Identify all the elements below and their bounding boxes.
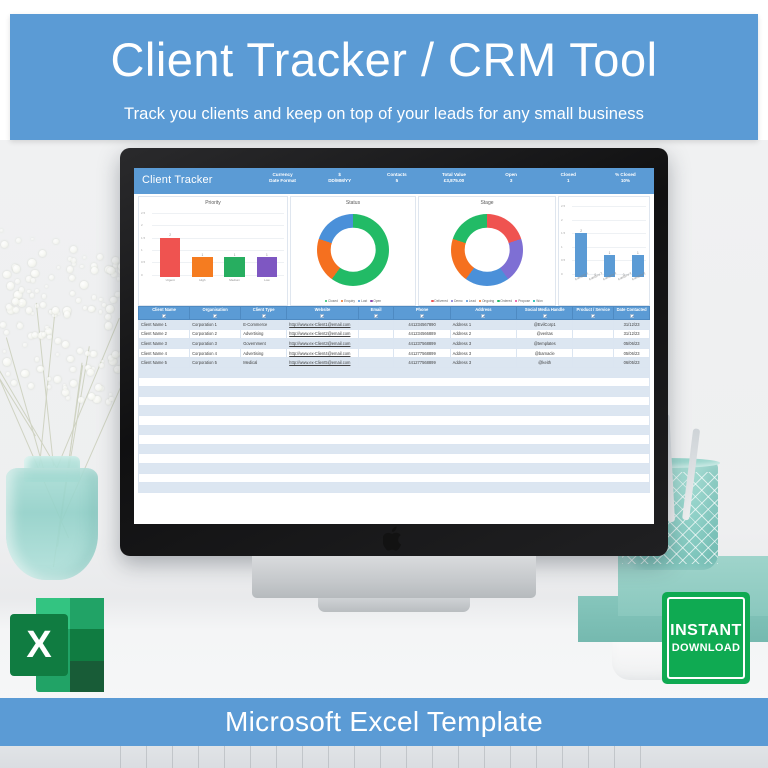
flower-bloom <box>26 307 32 313</box>
y-axis-tick: 0 <box>141 273 143 277</box>
y-axis-tick: 1.5 <box>141 236 145 240</box>
flower-bloom <box>17 323 23 329</box>
bar[interactable] <box>192 257 213 277</box>
cell-website[interactable]: http://www.ex-Client3@email.com <box>287 339 359 349</box>
legend-label: Lost <box>361 299 367 303</box>
legend-label: Ongoing <box>482 299 494 303</box>
cell-product[interactable] <box>573 320 614 330</box>
flower-bloom <box>31 270 38 277</box>
kpi-contacts-value: 5 <box>368 178 425 185</box>
flower-bloom <box>45 285 48 288</box>
y-axis-tick: 1 <box>141 248 143 252</box>
kpi-currency-symbol-label: $ <box>311 172 368 179</box>
page-subtitle: Track you clients and keep on top of you… <box>10 83 758 124</box>
flower-bloom <box>54 376 60 382</box>
chart-stage-plot <box>419 210 555 289</box>
legend-item: Ordered <box>497 299 512 303</box>
filter-dropdown-icon[interactable] <box>591 314 595 318</box>
filter-dropdown-icon[interactable] <box>162 314 166 318</box>
cell-address[interactable]: Address 3 <box>450 339 516 349</box>
flower-bloom <box>7 282 15 290</box>
chart-stage-legend: DeliveredDemoLeadOngoingOrderedProposeWo… <box>419 299 555 303</box>
x-axis-tick-label: Urgent <box>166 277 175 282</box>
cell-phone[interactable]: 441277568899 <box>394 348 450 358</box>
table-header-date-contacted: Date Contacted <box>614 307 650 320</box>
flower-bloom <box>47 335 51 339</box>
chart-client-type[interactable]: 00.511.522.52Category 10Category 21Categ… <box>558 196 650 306</box>
cell-email[interactable] <box>358 339 394 349</box>
cell-organisation[interactable]: Corporation 5 <box>190 358 241 368</box>
cell-client-type[interactable]: Advertising <box>241 329 287 339</box>
flower-bloom <box>80 281 88 289</box>
flower-bloom <box>1 241 8 248</box>
bar[interactable] <box>257 257 278 277</box>
excel-icon: X <box>10 598 104 692</box>
y-axis-tick: 1.5 <box>561 231 565 235</box>
table-header-phone: Phone <box>394 307 450 320</box>
empty-row[interactable] <box>138 464 650 474</box>
filter-dropdown-icon[interactable] <box>481 314 485 318</box>
flower-bloom <box>3 271 10 278</box>
bar-value-label: 1 <box>257 253 278 257</box>
spreadsheet-title: Client Tracker <box>134 168 254 194</box>
legend-label: Ordered <box>500 299 512 303</box>
flower-bloom <box>40 302 46 308</box>
legend-item: Propose <box>515 299 530 303</box>
table-header-email: Email <box>358 307 394 320</box>
flower-bloom <box>97 254 103 260</box>
flower-bloom <box>92 295 97 300</box>
flower-bloom <box>28 259 36 267</box>
bar-item[interactable]: 1High <box>192 214 213 277</box>
flower-bloom <box>13 265 21 273</box>
excel-icon-quad-4 <box>70 661 104 692</box>
table-header-product-service: Product / Service <box>573 307 614 320</box>
flower-bloom <box>76 298 81 303</box>
flower-bloom <box>42 294 46 298</box>
kpi-date-format-value: DD/MM/YY <box>311 178 368 185</box>
kpi-currency-symbol: $ DD/MM/YY <box>311 168 368 194</box>
table-header-address: Address <box>450 307 516 320</box>
flower-bloom <box>64 311 71 318</box>
cell-client-type[interactable]: E-Commerce <box>241 320 287 330</box>
table-header-row: Client NameOrganisationClient TypeWebsit… <box>139 307 650 320</box>
bar-value-label: 1 <box>224 253 245 257</box>
excel-icon-quad-3 <box>70 629 104 661</box>
kpi-open: Open 3 <box>483 168 540 194</box>
bar-item[interactable]: 2Category 1 <box>575 207 586 277</box>
flower-bloom <box>99 310 103 314</box>
instant-download-line-1: INSTANT <box>670 622 742 640</box>
flower-bloom <box>30 293 35 298</box>
kpi-closed-value: 1 <box>540 178 597 185</box>
flower-bloom <box>3 350 7 354</box>
legend-label: Enquiry <box>344 299 355 303</box>
client-table: Client NameOrganisationClient TypeWebsit… <box>138 306 650 368</box>
empty-row[interactable] <box>138 387 650 397</box>
kpi-closed-label: Closed <box>540 172 597 179</box>
bottom-banner: Microsoft Excel Template <box>0 698 768 746</box>
chart-priority-plot: 00.511.522.52Urgent1High1Medium1Low <box>139 210 287 289</box>
spreadsheet: Client Tracker Currency Date Format $ DD… <box>134 168 654 524</box>
cell-product[interactable] <box>573 348 614 358</box>
cell-client-name[interactable]: Client Name 5 <box>139 358 190 368</box>
cell-website[interactable]: http://www.ex-Client1@email.com <box>287 320 359 330</box>
table-row[interactable]: Client Name 5Corporation 5Medicalhttp://… <box>139 358 650 368</box>
empty-row[interactable] <box>138 397 650 407</box>
flower-bloom <box>110 297 116 303</box>
flower-bloom <box>56 353 59 356</box>
table-header-label: Website <box>288 308 357 313</box>
bar[interactable] <box>224 257 245 277</box>
flower-bloom <box>66 396 70 400</box>
y-axis-tick: 0.5 <box>141 260 145 264</box>
cell-date[interactable]: 31/12/23 <box>614 320 650 330</box>
legend-label: Demo <box>454 299 463 303</box>
flower-bloom <box>53 239 58 244</box>
cell-social[interactable]: @barnacle <box>517 348 573 358</box>
flower-bloom <box>32 332 38 338</box>
x-axis-tick-label: High <box>199 277 205 282</box>
legend-item: Enquiry <box>341 299 355 303</box>
x-axis-tick-label: Low <box>264 277 270 282</box>
filter-dropdown-icon[interactable] <box>213 314 217 318</box>
legend-item: Delivered <box>431 299 448 303</box>
instant-download-inner: INSTANT DOWNLOAD <box>667 597 745 679</box>
flower-bloom <box>57 266 60 269</box>
table-header-website: Website <box>287 307 359 320</box>
kpi-currency-label: Currency <box>254 172 311 179</box>
cell-product[interactable] <box>573 358 614 368</box>
donut-hole <box>331 227 376 272</box>
empty-row[interactable] <box>138 426 650 436</box>
cell-product[interactable] <box>573 329 614 339</box>
cell-social[interactable]: @templates <box>517 339 573 349</box>
cell-website[interactable]: http://www.ex-Client5@email.com <box>287 358 359 368</box>
flower-bloom <box>105 314 111 320</box>
flower-bloom <box>6 372 11 377</box>
cell-phone[interactable]: 441234567890 <box>394 320 450 330</box>
cell-date[interactable]: 31/12/23 <box>614 329 650 339</box>
chart-stage[interactable]: Stage DeliveredDemoLeadOngoingOrderedPro… <box>418 196 556 306</box>
y-axis-tick: 2.5 <box>141 211 145 215</box>
kpi-closed: Closed 1 <box>540 168 597 194</box>
flower-bloom <box>42 332 47 337</box>
flower-bloom <box>88 306 94 312</box>
cell-client-name[interactable]: Client Name 1 <box>139 320 190 330</box>
legend-swatch <box>341 300 343 302</box>
legend-label: Lead <box>469 299 476 303</box>
cell-client-name[interactable]: Client Name 2 <box>139 329 190 339</box>
monitor-stand <box>318 598 470 612</box>
flower-bloom <box>15 279 20 284</box>
flower-bloom <box>49 275 55 281</box>
y-axis-tick: 2.5 <box>561 204 565 208</box>
monitor-chin <box>252 556 536 598</box>
empty-row[interactable] <box>138 474 650 484</box>
kpi-contacts: Contacts 5 <box>368 168 425 194</box>
excel-icon-letter: X <box>10 614 68 676</box>
kpi-total-value-value: £3,875.00 <box>425 178 482 185</box>
flower-bloom <box>3 358 11 366</box>
cell-product[interactable] <box>573 339 614 349</box>
legend-item: Ongoing <box>479 299 494 303</box>
imac-computer: Client Tracker Currency Date Format $ DD… <box>120 148 668 600</box>
flower-bloom <box>62 341 69 348</box>
legend-item: Lead <box>466 299 476 303</box>
monitor-screen: Client Tracker Currency Date Format $ DD… <box>134 168 654 524</box>
table-header-social-media-handle: Social Media Handle <box>517 307 573 320</box>
bar-value-label: 1 <box>192 253 213 257</box>
flower-bloom <box>83 306 87 310</box>
table-header-label: Product / Service <box>574 308 612 313</box>
flower-bloom <box>39 250 47 258</box>
empty-row[interactable] <box>138 483 650 493</box>
filter-dropdown-icon[interactable] <box>543 314 547 318</box>
flower-bloom <box>27 290 31 294</box>
bar-value-label: 1 <box>604 251 615 255</box>
spreadsheet-header-bar: Client Tracker Currency Date Format $ DD… <box>134 168 654 194</box>
page-title: Client Tracker / CRM Tool <box>10 14 758 83</box>
legend-item: Open <box>370 299 381 303</box>
filter-dropdown-icon[interactable] <box>630 314 634 318</box>
excel-icon-quad-2 <box>70 598 104 629</box>
bar[interactable] <box>160 238 181 277</box>
flower-bloom <box>87 369 94 376</box>
bar-item[interactable]: 1Category 5 <box>632 207 643 277</box>
cell-organisation[interactable]: Corporation 3 <box>190 339 241 349</box>
cell-website[interactable]: http://www.ex-Client2@email.com <box>287 329 359 339</box>
table-header-label: Organisation <box>191 308 239 313</box>
empty-row[interactable] <box>138 368 650 378</box>
cell-social[interactable]: @veritas <box>517 329 573 339</box>
cell-organisation[interactable]: Corporation 4 <box>190 348 241 358</box>
x-axis-tick-label: Medium <box>229 277 240 282</box>
flower-bloom <box>91 267 98 274</box>
legend-item: Won <box>533 299 543 303</box>
empty-row[interactable] <box>138 435 650 445</box>
flower-bloom <box>0 229 3 232</box>
cell-organisation[interactable]: Corporation 1 <box>190 320 241 330</box>
flower-bloom <box>35 357 40 362</box>
chart-stage-title: Stage <box>419 197 555 206</box>
filter-dropdown-icon[interactable] <box>320 314 324 318</box>
mint-vase <box>6 468 98 580</box>
cell-address[interactable]: Address 2 <box>450 329 516 339</box>
flower-bloom <box>21 370 29 378</box>
flower-bloom <box>35 289 39 293</box>
flower-bloom <box>47 385 51 389</box>
flower-bloom <box>83 256 86 259</box>
flower-bloom <box>11 380 17 386</box>
bar-item[interactable]: 0Category 2 <box>590 207 601 277</box>
empty-row[interactable] <box>138 445 650 455</box>
cell-email[interactable] <box>358 320 394 330</box>
flower-bloom <box>31 278 35 282</box>
flower-bloom <box>28 383 34 389</box>
cell-client-type[interactable]: Advertising <box>241 348 287 358</box>
empty-row[interactable] <box>138 406 650 416</box>
cell-phone[interactable]: 441234566889 <box>394 329 450 339</box>
cell-address[interactable]: Address 3 <box>450 358 516 368</box>
chart-status-title: Status <box>291 197 415 206</box>
bar-item[interactable]: 0Category 4 <box>618 207 629 277</box>
flower-bloom <box>70 380 77 387</box>
filter-dropdown-icon[interactable] <box>420 314 424 318</box>
bars-group: 2Category 10Category 21Category 30Catego… <box>574 207 645 277</box>
cell-client-type[interactable]: Medical <box>241 358 287 368</box>
flower-bloom <box>47 377 52 382</box>
flower-bloom <box>95 384 102 391</box>
y-axis-tick: 1 <box>561 245 563 249</box>
flower-bloom <box>0 322 6 328</box>
flower-bloom <box>67 356 74 363</box>
y-axis-tick: 0 <box>561 272 563 276</box>
kpi-total-value: Total Value £3,875.00 <box>425 168 482 194</box>
table-row[interactable]: Client Name 3Corporation 3Governmenthttp… <box>139 339 650 349</box>
table-body: Client Name 1Corporation 1E-Commercehttp… <box>139 320 650 368</box>
table-header-organisation: Organisation <box>190 307 241 320</box>
bar-value-label: 2 <box>575 229 586 233</box>
cell-organisation[interactable]: Corporation 2 <box>190 329 241 339</box>
legend-swatch <box>325 300 327 302</box>
kpi-percent-closed-label: % Closed <box>597 172 654 179</box>
filter-dropdown-icon[interactable] <box>262 314 266 318</box>
table-header-label: Address <box>452 308 515 313</box>
flower-bloom <box>70 367 75 372</box>
flower-bloom <box>63 386 67 390</box>
table-header-client-type: Client Type <box>241 307 287 320</box>
table-header-label: Date Contacted <box>615 308 648 313</box>
flower-bloom <box>80 265 83 268</box>
cell-client-name[interactable]: Client Name 4 <box>139 348 190 358</box>
chart-client-type-title <box>559 197 649 200</box>
legend-item: Lost <box>358 299 367 303</box>
kpi-percent-closed: % Closed 10% <box>597 168 654 194</box>
legend-label: Won <box>536 299 543 303</box>
chart-status-plot <box>291 210 415 289</box>
flower-bloom <box>112 351 119 358</box>
cell-date[interactable]: 06/05/23 <box>614 358 650 368</box>
legend-swatch <box>451 300 453 302</box>
flower-bloom <box>107 267 114 274</box>
flower-bloom <box>77 348 83 354</box>
cell-social[interactable]: @EvilCorp1 <box>517 320 573 330</box>
flower-bloom <box>35 304 39 308</box>
legend-swatch <box>358 300 360 302</box>
kpi-total-value-label: Total Value <box>425 172 482 179</box>
cell-address[interactable]: Address 3 <box>450 348 516 358</box>
flower-bloom <box>105 322 112 329</box>
flower-bloom <box>106 305 114 313</box>
flower-bloom <box>23 343 26 346</box>
cell-phone[interactable]: 441237568899 <box>394 339 450 349</box>
cell-email[interactable] <box>358 358 394 368</box>
cell-client-type[interactable]: Government <box>241 339 287 349</box>
flower-bloom <box>70 291 76 297</box>
table-row[interactable]: Client Name 1Corporation 1E-Commercehttp… <box>139 320 650 330</box>
kpi-open-value: 3 <box>483 178 540 185</box>
cell-phone[interactable]: 441277568899 <box>394 358 450 368</box>
empty-row[interactable] <box>138 454 650 464</box>
cell-email[interactable] <box>358 329 394 339</box>
flower-bloom <box>90 351 97 358</box>
flower-bloom <box>19 287 24 292</box>
client-table-wrapper: Client NameOrganisationClient TypeWebsit… <box>134 306 654 368</box>
apple-logo-icon <box>383 526 405 552</box>
instant-download-line-2: DOWNLOAD <box>672 642 740 654</box>
table-header-label: Social Media Handle <box>518 308 571 313</box>
cell-email[interactable] <box>358 348 394 358</box>
flower-bloom <box>109 393 112 396</box>
bar-item[interactable]: 1Medium <box>224 214 245 277</box>
y-axis-tick: 2 <box>141 223 143 227</box>
empty-row[interactable] <box>138 416 650 426</box>
chart-priority[interactable]: Priority 00.511.522.52Urgent1High1Medium… <box>138 196 288 306</box>
instant-download-badge: INSTANT DOWNLOAD <box>662 592 750 684</box>
flower-bloom <box>99 298 103 302</box>
flower-bloom <box>55 338 60 343</box>
flower-bloom <box>99 363 103 367</box>
table-header-client-name: Client Name <box>139 307 190 320</box>
y-axis-tick: 0.5 <box>561 258 565 262</box>
bar-item[interactable]: 1Low <box>257 214 278 277</box>
kpi-currency: Currency Date Format <box>254 168 311 194</box>
legend-swatch <box>466 300 468 302</box>
flower-bloom <box>67 266 73 272</box>
flower-bloom <box>68 257 72 261</box>
legend-item: Closed <box>325 299 338 303</box>
chart-status-legend: ClosedEnquiryLostOpen <box>291 299 415 303</box>
bottom-banner-label: Microsoft Excel Template <box>225 706 543 738</box>
chart-status[interactable]: Status ClosedEnquiryLostOpen <box>290 196 416 306</box>
dashboard-charts: Priority 00.511.522.52Urgent1High1Medium… <box>134 194 654 306</box>
legend-label: Propose <box>518 299 530 303</box>
flower-bloom <box>16 238 21 243</box>
legend-label: Open <box>373 299 381 303</box>
filter-dropdown-icon[interactable] <box>374 314 378 318</box>
flower-bloom <box>70 246 77 253</box>
empty-row[interactable] <box>138 378 650 388</box>
table-row[interactable]: Client Name 2Corporation 2Advertisinghtt… <box>139 329 650 339</box>
bar-value-label: 2 <box>160 233 181 237</box>
cell-client-name[interactable]: Client Name 3 <box>139 339 190 349</box>
table-header-label: Phone <box>395 308 448 313</box>
kpi-percent-closed-value: 10% <box>597 178 654 185</box>
table-header-label: Client Type <box>242 308 285 313</box>
table-row[interactable]: Client Name 4Corporation 4Advertisinghtt… <box>139 348 650 358</box>
chart-client-type-plot: 00.511.522.52Category 10Category 21Categ… <box>559 203 649 289</box>
kpi-currency-value: Date Format <box>254 178 311 185</box>
bar-item[interactable]: 2Urgent <box>160 214 181 277</box>
empty-rows-region <box>134 368 654 493</box>
table-header-label: Client Name <box>140 308 188 313</box>
y-axis-tick: 2 <box>561 218 563 222</box>
top-banner: Client Tracker / CRM Tool Track you clie… <box>10 14 758 140</box>
kpi-open-label: Open <box>483 172 540 179</box>
bar-value-label: 1 <box>632 251 643 255</box>
cell-date[interactable]: 05/06/23 <box>614 339 650 349</box>
bar-item[interactable]: 1Category 3 <box>604 207 615 277</box>
cell-date[interactable]: 05/06/23 <box>614 348 650 358</box>
flower-bloom <box>20 303 23 306</box>
flower-bloom <box>4 330 9 335</box>
legend-label: Delivered <box>434 299 447 303</box>
bars-group: 2Urgent1High1Medium1Low <box>154 214 283 277</box>
cell-social[interactable]: @keith <box>517 358 573 368</box>
cell-address[interactable]: Address 1 <box>450 320 516 330</box>
cell-website[interactable]: http://www.ex-Client4@email.com <box>287 348 359 358</box>
